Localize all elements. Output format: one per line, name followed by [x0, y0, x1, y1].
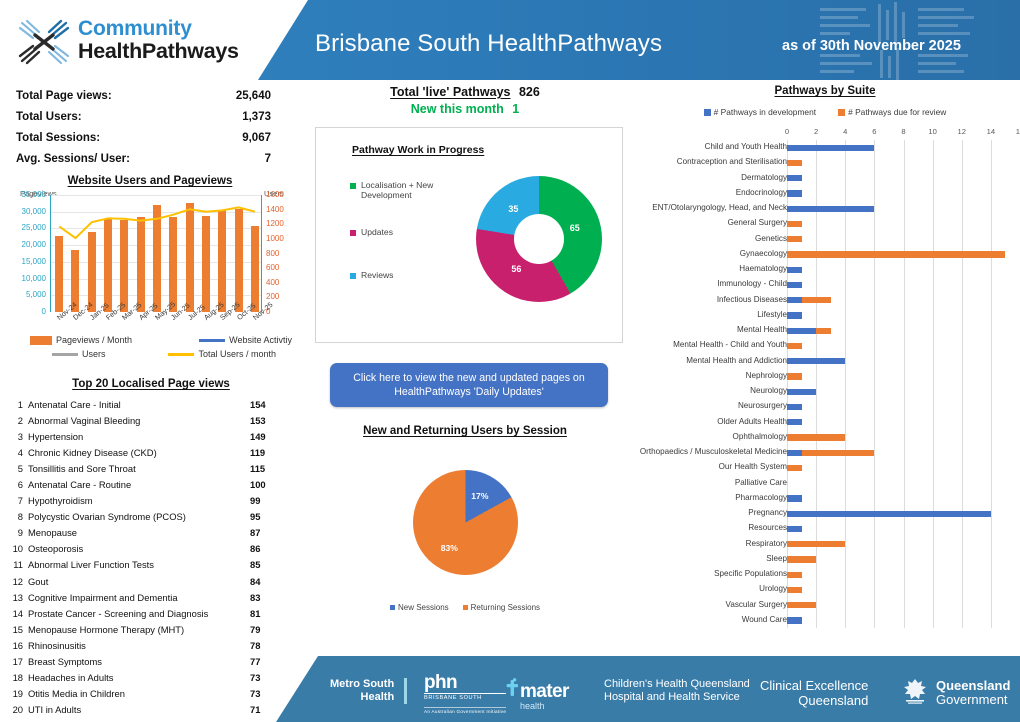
pathways-suite-label: Immunology - Child [717, 279, 787, 288]
list-item-name: Tonsillitis and Sore Throat [28, 463, 250, 474]
bar-due-for-review [787, 587, 802, 593]
pathways-suite-row: ENT/Otolaryngology, Head, and Neck [630, 201, 1020, 216]
donut-label-updates: 56 [511, 264, 521, 274]
y2-axis-tick: 200 [266, 292, 296, 301]
legend-label: # Pathways in development [714, 107, 816, 117]
top20-list-item: 7Hypothyroidism99 [8, 493, 294, 509]
y2-axis-tick: 1600 [266, 190, 296, 199]
pathways-suite-label: ENT/Otolaryngology, Head, and Neck [652, 203, 787, 212]
pathways-suite-row: Contraception and Sterilisation [630, 155, 1020, 170]
bar-due-for-review [787, 236, 802, 242]
donut-hole [514, 214, 564, 264]
y2-axis-tick: 1000 [266, 234, 296, 243]
list-item-rank: 4 [8, 447, 28, 458]
top20-list-item: 16Rhinosinusitis78 [8, 637, 294, 653]
x-axis-tick: 10 [928, 127, 936, 136]
pathways-suite-label: Genetics [755, 234, 787, 243]
logo-wordmark: Community HealthPathways [78, 18, 239, 62]
list-item-name: Rhinosinusitis [28, 640, 250, 651]
y2-axis-tick: 400 [266, 278, 296, 287]
pie-label-returning-sessions: 83% [441, 543, 458, 553]
list-item-views: 81 [250, 608, 294, 619]
bar-due-for-review [787, 434, 845, 440]
bar-in-development [787, 328, 816, 334]
list-item-views: 99 [250, 495, 294, 506]
pathways-suite-row: Neurosurgery [630, 399, 1020, 414]
pathways-suite-label: Palliative Care [735, 478, 787, 487]
legend-item-updates: Updates [350, 227, 470, 237]
queensland-government-logo: Queensland Government [900, 676, 1010, 710]
pathways-suite-label: Nephrology [746, 371, 787, 380]
metro-south-health-logo: Metro South Health [330, 678, 394, 704]
x-axis-tick: 16 [1016, 127, 1020, 136]
list-item-name: Hypothyroidism [28, 495, 250, 506]
legend-label: Updates [361, 227, 393, 237]
total-users-line [51, 195, 263, 312]
page-header: Brisbane South HealthPathways as of 30th… [0, 0, 1020, 80]
wip-chart-title: Pathway Work in Progress [352, 144, 484, 156]
stat-value: 25,640 [236, 90, 271, 102]
legend-label: Total Users / month [198, 349, 276, 359]
pathways-x-axis: 0246810121416 [630, 127, 1020, 138]
bar-due-for-review [802, 450, 875, 456]
list-item-rank: 6 [8, 479, 28, 490]
pathways-suite-label: Specific Populations [714, 569, 787, 578]
legend-item-website-activity: Website Activtiy [199, 335, 292, 345]
list-item-name: Abnormal Vaginal Bleeding [28, 415, 250, 426]
stat-value: 9,067 [242, 132, 271, 144]
legend-item-users: Users [52, 349, 106, 359]
list-item-rank: 13 [8, 592, 28, 603]
legend-swatch-orange-icon [838, 109, 845, 116]
footer-logo-line-1: Clinical Excellence [760, 678, 868, 693]
pathways-suite-row: Genetics [630, 232, 1020, 247]
pathways-suite-row: Mental Health and Addiction [630, 354, 1020, 369]
stat-value: 7 [265, 153, 271, 165]
list-item-rank: 14 [8, 608, 28, 619]
legend-item-pageviews: Pageviews / Month [30, 335, 132, 345]
pathways-by-suite-title: Pathways by Suite [630, 85, 1020, 97]
y-axis-tick: 5,000 [10, 290, 46, 299]
legend-item-in-development: # Pathways in development [704, 107, 816, 117]
bar-in-development [787, 312, 802, 318]
top20-list-item: 12Gout84 [8, 573, 294, 589]
pathways-suite-label: Neurosurgery [738, 401, 787, 410]
legend-label: Reviews [361, 270, 393, 280]
top20-list-item: 10Osteoporosis86 [8, 541, 294, 557]
pathways-suite-row: Lifestyle [630, 308, 1020, 323]
bar-in-development [787, 297, 802, 303]
pathways-suite-row: Urology [630, 582, 1020, 597]
top20-list-item: 3Hypertension149 [8, 428, 294, 444]
pathways-suite-row: General Surgery [630, 216, 1020, 231]
website-chart-legend: Pageviews / Month Website Activtiy Users… [30, 335, 292, 359]
legend-label: Website Activtiy [229, 335, 292, 345]
pathways-suite-label: Mental Health - Child and Youth [673, 340, 787, 349]
bar-in-development [787, 450, 802, 456]
bar-in-development [787, 282, 802, 288]
legend-swatch-orange-icon [463, 605, 468, 610]
bar-due-for-review [787, 221, 802, 227]
legend-swatch-bar-icon [30, 336, 52, 345]
legend-label: New Sessions [398, 603, 449, 612]
list-item-views: 100 [250, 479, 294, 490]
footer-logo-line-2: BRISBANE SOUTH [424, 693, 506, 702]
stat-label: Total Page views: [16, 90, 112, 102]
legend-label: Pageviews / Month [56, 335, 132, 345]
bar-due-for-review [787, 572, 802, 578]
legend-swatch-blue-icon [390, 605, 395, 610]
bar-due-for-review [802, 297, 831, 303]
stat-row: Total Page views: 25,640 [16, 85, 271, 106]
list-item-name: Gout [28, 576, 250, 587]
list-item-rank: 15 [8, 624, 28, 635]
list-item-name: Abnormal Liver Function Tests [28, 559, 250, 570]
pathways-by-suite-legend: # Pathways in development # Pathways due… [630, 107, 1020, 117]
page-title: Brisbane South HealthPathways [315, 30, 662, 58]
list-item-views: 85 [250, 559, 294, 570]
pathways-suite-row: Infectious Diseases [630, 293, 1020, 308]
donut-label-localisation: 65 [570, 223, 580, 233]
footer-logo-line-1: Queensland [936, 679, 1010, 693]
list-item-rank: 10 [8, 543, 28, 554]
logo-line-2: HealthPathways [78, 40, 239, 62]
footer-logo-line-1: Metro South [330, 678, 394, 691]
pathways-suite-label: Wound Care [742, 615, 787, 624]
pathways-suite-row: Palliative Care [630, 476, 1020, 491]
y2-axis-tick: 1200 [266, 219, 296, 228]
footer-logo-line-2: Hospital and Health Service [604, 691, 750, 704]
list-item-rank: 8 [8, 511, 28, 522]
pathways-suite-label: Pregnancy [748, 508, 787, 517]
list-item-views: 84 [250, 576, 294, 587]
pathways-suite-row: Resources [630, 521, 1020, 536]
legend-swatch-blue-icon [704, 109, 711, 116]
list-item-rank: 7 [8, 495, 28, 506]
total-live-pathways-label: Total 'live' Pathways [390, 85, 510, 99]
top20-list-item: 9Menopause87 [8, 525, 294, 541]
footer-logo-line-2: Health [330, 691, 394, 704]
pathways-suite-row: Nephrology [630, 369, 1020, 384]
y2-axis-tick: 1400 [266, 205, 296, 214]
footer-logo-line-1: phn [424, 674, 506, 692]
pathways-suite-label: Endocrinology [736, 188, 787, 197]
pathways-suite-row: Neurology [630, 384, 1020, 399]
stat-label: Total Users: [16, 111, 82, 123]
bar-in-development [787, 526, 802, 532]
list-item-rank: 2 [8, 415, 28, 426]
bar-due-for-review [787, 602, 816, 608]
list-item-rank: 3 [8, 431, 28, 442]
top20-list-item: 2Abnormal Vaginal Bleeding153 [8, 412, 294, 428]
list-item-name: Antenatal Care - Initial [28, 399, 250, 410]
x-axis-tick: 6 [872, 127, 876, 136]
wip-donut-chart: 65 56 35 [476, 176, 602, 302]
pathways-suite-row: Orthopaedics / Musculoskeletal Medicine [630, 445, 1020, 460]
legend-item-localisation: Localisation + New Development [350, 180, 470, 200]
legend-swatch-line-icon [199, 339, 225, 342]
legend-item-total-users: Total Users / month [168, 349, 276, 359]
y2-axis-tick: 800 [266, 249, 296, 258]
bar-due-for-review [787, 541, 845, 547]
new-this-month: New this month 1 [300, 102, 630, 116]
list-item-views: 119 [250, 447, 294, 458]
bar-in-development [787, 358, 845, 364]
legend-swatch-line-icon [168, 353, 194, 356]
pathways-suite-label: Respiratory [746, 539, 787, 548]
pathways-suite-label: Mental Health [737, 325, 787, 334]
y-axis-tick: 15,000 [10, 257, 46, 266]
pathways-suite-row: Gynaecology [630, 247, 1020, 262]
total-live-pathways: Total 'live' Pathways 826 [300, 85, 630, 99]
legend-label: Returning Sessions [471, 603, 540, 612]
list-item-views: 115 [250, 463, 294, 474]
footer-logo-line-2: health [520, 701, 569, 712]
pathways-suite-label: Dermatology [741, 173, 787, 182]
footer-logo-line-2: Queensland [760, 693, 868, 708]
list-item-views: 149 [250, 431, 294, 442]
pathways-suite-row: Sleep [630, 552, 1020, 567]
list-item-views: 153 [250, 415, 294, 426]
y-axis-tick: 20,000 [10, 240, 46, 249]
x-axis-tick: 2 [814, 127, 818, 136]
legend-swatch-green-icon [350, 183, 356, 189]
list-item-rank: 5 [8, 463, 28, 474]
x-axis-tick: 0 [785, 127, 789, 136]
total-live-pathways-value: 826 [519, 85, 540, 99]
pathways-suite-row: Pharmacology [630, 491, 1020, 506]
legend-item-due-for-review: # Pathways due for review [838, 107, 946, 117]
community-healthpathways-logo: Community HealthPathways [18, 16, 268, 68]
list-item-rank: 1 [8, 399, 28, 410]
pathways-suite-label: Vascular Surgery [726, 600, 787, 609]
list-item-views: 78 [250, 640, 294, 651]
bar-in-development [787, 267, 802, 273]
pathways-suite-row: Pregnancy [630, 506, 1020, 521]
stat-row: Total Sessions: 9,067 [16, 127, 271, 148]
x-axis-tick: 8 [901, 127, 905, 136]
report-date: as of 30th November 2025 [782, 38, 961, 54]
bar-in-development [787, 495, 802, 501]
bar-due-for-review [787, 251, 1005, 257]
top20-list-item: 13Cognitive Impairment and Dementia83 [8, 589, 294, 605]
bar-in-development [787, 419, 802, 425]
bar-in-development [787, 175, 802, 181]
mater-health-logo: mater health [506, 678, 569, 712]
website-chart-title: Website Users and Pageviews [8, 175, 292, 187]
legend-item-new-sessions: New Sessions [390, 603, 449, 612]
pathways-suite-row: Older Adults Health [630, 415, 1020, 430]
pathways-suite-row: Specific Populations [630, 567, 1020, 582]
pathways-suite-row: Dermatology [630, 171, 1020, 186]
legend-item-reviews: Reviews [350, 270, 470, 280]
top20-title: Top 20 Localised Page views [8, 378, 294, 390]
pathways-suite-label: Our Health System [719, 462, 787, 471]
stat-row: Avg. Sessions/ User: 7 [16, 148, 271, 169]
pathways-suite-label: Ophthalmology [733, 432, 787, 441]
childrens-health-queensland-logo: Children's Health Queensland Hospital an… [604, 678, 750, 704]
bar-due-for-review [787, 343, 802, 349]
list-item-views: 95 [250, 511, 294, 522]
top20-list-item: 5Tonsillitis and Sore Throat115 [8, 460, 294, 476]
website-chart-plot-area [50, 195, 262, 312]
bar-due-for-review [787, 465, 802, 471]
pathways-suite-row: Haematology [630, 262, 1020, 277]
list-item-views: 79 [250, 624, 294, 635]
list-item-name: Hypertension [28, 431, 250, 442]
page-footer: Metro South Health phn BRISBANE SOUTH An… [0, 656, 1020, 722]
clinical-excellence-queensland-logo: Clinical Excellence Queensland [760, 678, 868, 709]
pathway-work-in-progress-card: Pathway Work in Progress Localisation + … [315, 127, 623, 343]
cross-icon [506, 678, 519, 700]
summary-statistics: Total Page views: 25,640 Total Users: 1,… [16, 85, 271, 169]
list-item-rank: 9 [8, 527, 28, 538]
queensland-coat-of-arms-icon [900, 676, 930, 710]
pathways-suite-label: Urology [759, 584, 787, 593]
top20-list-item: 14Prostate Cancer - Screening and Diagno… [8, 605, 294, 621]
pathways-suite-row: Mental Health - Child and Youth [630, 338, 1020, 353]
pie-label-new-sessions: 17% [471, 491, 488, 501]
snowflake-logo-icon [18, 18, 70, 66]
stat-label: Total Sessions: [16, 132, 100, 144]
bar-in-development [787, 145, 874, 151]
pathways-suite-row: Our Health System [630, 460, 1020, 475]
y-axis-tick: 0 [10, 307, 46, 316]
list-item-name: Menopause Hormone Therapy (MHT) [28, 624, 250, 635]
pathways-suite-label: General Surgery [728, 218, 787, 227]
new-this-month-value: 1 [512, 102, 519, 116]
list-item-name: Menopause [28, 527, 250, 538]
donut-label-reviews: 35 [508, 204, 518, 214]
legend-label: Localisation + New Development [361, 180, 470, 200]
pathways-suite-label: Contraception and Sterilisation [677, 157, 787, 166]
center-panel: Total 'live' Pathways 826 New this month… [300, 85, 630, 116]
list-item-rank: 11 [8, 559, 28, 570]
pathways-suite-label: Resources [748, 523, 787, 532]
footer-divider [404, 678, 407, 704]
phn-brisbane-south-logo: phn BRISBANE SOUTH An Australian Governm… [424, 674, 506, 714]
y-axis-tick: 25,000 [10, 223, 46, 232]
pathways-suite-row: Mental Health [630, 323, 1020, 338]
pathways-suite-label: Mental Health and Addiction [686, 356, 787, 365]
pathways-suite-label: Orthopaedics / Musculoskeletal Medicine [640, 447, 787, 456]
pathways-suite-row: Vascular Surgery [630, 598, 1020, 613]
website-users-pageviews-chart: Website Users and Pageviews Pageviews Us… [8, 175, 292, 375]
pathways-plot-area: Child and Youth HealthContraception and … [630, 140, 1020, 628]
list-item-views: 87 [250, 527, 294, 538]
legend-label: # Pathways due for review [848, 107, 946, 117]
legend-swatch-magenta-icon [350, 230, 356, 236]
pathways-suite-row: Respiratory [630, 537, 1020, 552]
bar-in-development [787, 617, 802, 623]
wip-legend: Localisation + New Development Updates R… [350, 180, 470, 280]
pathways-suite-row: Child and Youth Health [630, 140, 1020, 155]
pathways-suite-label: Child and Youth Health [705, 142, 787, 151]
x-axis-tick: 4 [843, 127, 847, 136]
bar-due-for-review [787, 160, 802, 166]
top20-list-item: 1Antenatal Care - Initial154 [8, 396, 294, 412]
pathways-suite-row: Immunology - Child [630, 277, 1020, 292]
legend-swatch-blue-icon [350, 273, 356, 279]
pathways-by-suite-panel: Pathways by Suite # Pathways in developm… [630, 85, 1020, 97]
new-returning-pie-chart: 17% 83% [413, 470, 518, 575]
bar-in-development [787, 389, 816, 395]
y-axis-tick: 30,000 [10, 207, 46, 216]
top20-list-item: 4Chronic Kidney Disease (CKD)119 [8, 444, 294, 460]
x-axis-tick: 12 [958, 127, 966, 136]
pathways-suite-label: Gynaecology [740, 249, 787, 258]
y-axis-tick: 35,000 [10, 190, 46, 199]
footer-logo-line-1: Children's Health Queensland [604, 678, 750, 691]
list-item-views: 83 [250, 592, 294, 603]
stat-value: 1,373 [242, 111, 271, 123]
list-item-name: Osteoporosis [28, 543, 250, 554]
y-axis-tick: 10,000 [10, 274, 46, 283]
pathways-suite-label: Infectious Diseases [717, 295, 787, 304]
bar-in-development [787, 206, 874, 212]
pathways-suite-row: Ophthalmology [630, 430, 1020, 445]
pathways-suite-label: Neurology [750, 386, 787, 395]
daily-updates-button[interactable]: Click here to view the new and updated p… [330, 363, 608, 407]
bar-in-development [787, 190, 802, 196]
legend-item-returning-sessions: Returning Sessions [463, 603, 540, 612]
footer-logo-line-2: Government [936, 693, 1010, 707]
top20-list-item: 6Antenatal Care - Routine100 [8, 476, 294, 492]
x-axis-tick: 14 [987, 127, 995, 136]
list-item-name: Antenatal Care - Routine [28, 479, 250, 490]
new-returning-chart-title: New and Returning Users by Session [300, 425, 630, 437]
pathways-suite-row: Wound Care [630, 613, 1020, 628]
footer-logo-line-1: mater [520, 683, 569, 700]
legend-swatch-line-icon [52, 353, 78, 356]
list-item-name: Polycystic Ovarian Syndrome (PCOS) [28, 511, 250, 522]
logo-line-1: Community [78, 18, 239, 40]
legend-label: Users [82, 349, 106, 359]
pathways-suite-label: Lifestyle [757, 310, 787, 319]
bar-due-for-review [816, 328, 831, 334]
bar-in-development [787, 404, 802, 410]
pathways-suite-label: Older Adults Health [717, 417, 787, 426]
footer-logo-line-1-text: Clinical Excellence [760, 678, 868, 693]
pathways-suite-label: Pharmacology [735, 493, 787, 502]
new-this-month-label: New this month [411, 102, 504, 116]
list-item-name: Cognitive Impairment and Dementia [28, 592, 250, 603]
stat-label: Avg. Sessions/ User: [16, 153, 130, 165]
bar-due-for-review [787, 373, 802, 379]
top20-list-item: 8Polycystic Ovarian Syndrome (PCOS)95 [8, 509, 294, 525]
top20-list-item: 11Abnormal Liver Function Tests85 [8, 557, 294, 573]
pathways-suite-label: Haematology [739, 264, 787, 273]
top20-list-item: 15Menopause Hormone Therapy (MHT)79 [8, 621, 294, 637]
new-returning-legend: New Sessions Returning Sessions [370, 603, 560, 612]
stat-row: Total Users: 1,373 [16, 106, 271, 127]
y2-axis-tick: 600 [266, 263, 296, 272]
list-item-views: 86 [250, 543, 294, 554]
pathways-suite-row: Endocrinology [630, 186, 1020, 201]
list-item-rank: 12 [8, 576, 28, 587]
bar-due-for-review [787, 556, 816, 562]
bar-in-development [787, 511, 991, 517]
pathways-suite-label: Sleep [766, 554, 787, 563]
list-item-name: Chronic Kidney Disease (CKD) [28, 447, 250, 458]
list-item-views: 154 [250, 399, 294, 410]
list-item-name: Prostate Cancer - Screening and Diagnosi… [28, 608, 250, 619]
footer-logo-line-3: An Australian Government Initiative [424, 707, 506, 714]
list-item-rank: 16 [8, 640, 28, 651]
